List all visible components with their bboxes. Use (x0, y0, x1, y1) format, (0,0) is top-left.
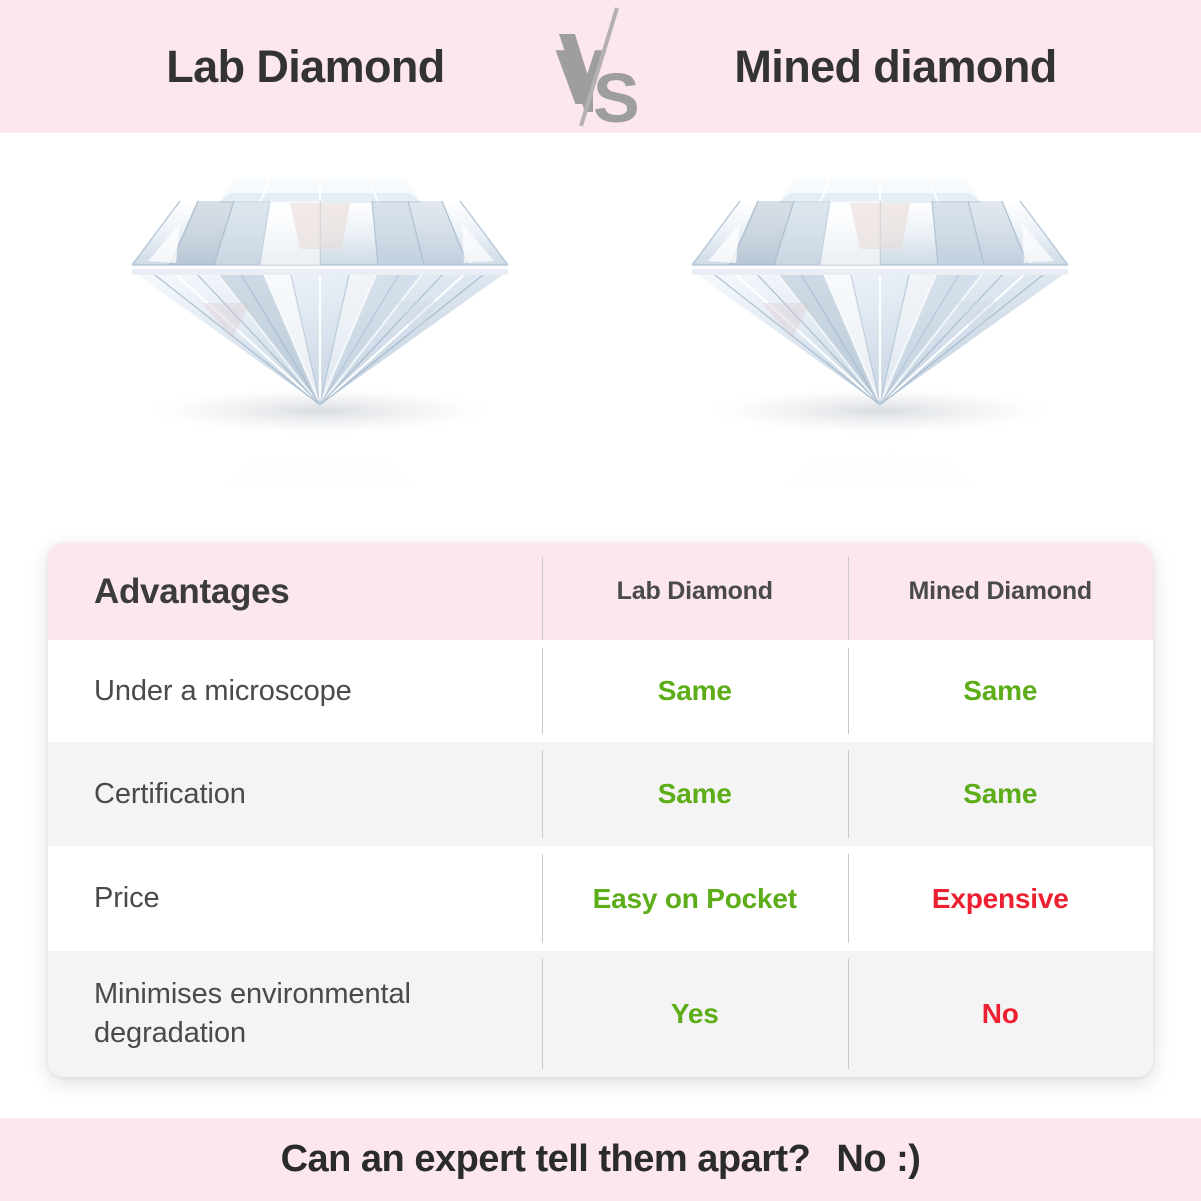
feature-label: Certification (94, 775, 246, 814)
table-cell-feature: Under a microscope (48, 640, 542, 742)
table-cell-lab-value: Yes (542, 951, 848, 1077)
table-header-lab-label: Lab Diamond (617, 577, 773, 606)
vs-badge: V S (541, 0, 661, 133)
table-header-cell-advantages: Advantages (48, 543, 542, 640)
table-cell-mined-value: Same (848, 742, 1154, 846)
header-titles: Lab Diamond V S Mined diamond (0, 0, 1201, 133)
mined-value: No (982, 998, 1019, 1030)
table-cell-mined-value: Expensive (848, 846, 1154, 951)
table-cell-mined-value: Same (848, 640, 1154, 742)
diamond-icon-mined (670, 153, 1090, 483)
infographic-page: Lab Diamond V S Mined diamond (0, 0, 1201, 1201)
mined-value: Same (963, 778, 1037, 810)
footer-band: Can an expert tell them apart? No :) (0, 1118, 1201, 1201)
feature-label: Under a microscope (94, 672, 352, 711)
table-cell-lab-value: Same (542, 640, 848, 742)
header-band: Lab Diamond V S Mined diamond (0, 0, 1201, 133)
vs-icon: V S (541, 0, 661, 133)
table-header-cell-lab: Lab Diamond (542, 543, 848, 640)
table-header-mined-label: Mined Diamond (908, 577, 1092, 606)
table-cell-lab-value: Easy on Pocket (542, 846, 848, 951)
table-header-cell-mined: Mined Diamond (848, 543, 1154, 640)
feature-label: Price (94, 879, 160, 918)
comparison-card: Advantages Lab Diamond Mined Diamond Und… (48, 543, 1153, 1077)
comparison-table: Advantages Lab Diamond Mined Diamond Und… (48, 543, 1153, 1077)
lab-value: Same (658, 778, 732, 810)
footer-question: Can an expert tell them apart? (281, 1138, 811, 1181)
table-row: Price Easy on Pocket Expensive (48, 846, 1153, 951)
table-cell-mined-value: No (848, 951, 1154, 1077)
mined-value: Expensive (932, 883, 1069, 915)
table-header-advantages-label: Advantages (94, 572, 289, 612)
diamond-image-lab (110, 153, 530, 483)
footer-answer: No :) (836, 1138, 920, 1181)
diamond-icon-lab (110, 153, 530, 483)
lab-value: Easy on Pocket (593, 883, 797, 915)
table-cell-feature: Certification (48, 742, 542, 846)
table-cell-lab-value: Same (542, 742, 848, 846)
mined-value: Same (963, 675, 1037, 707)
diamond-image-area (0, 133, 1201, 545)
table-cell-feature: Minimises environmental degradation (48, 951, 542, 1077)
page-title-lab-diamond: Lab Diamond (71, 41, 541, 93)
table-header-row: Advantages Lab Diamond Mined Diamond (48, 543, 1153, 640)
table-row: Minimises environmental degradation Yes … (48, 951, 1153, 1077)
page-title-mined-diamond: Mined diamond (661, 41, 1131, 93)
table-row: Certification Same Same (48, 742, 1153, 846)
lab-value: Yes (671, 998, 719, 1030)
lab-value: Same (658, 675, 732, 707)
feature-label: Minimises environmental degradation (94, 975, 542, 1052)
diamond-image-mined (670, 153, 1090, 483)
table-row: Under a microscope Same Same (48, 640, 1153, 742)
table-cell-feature: Price (48, 846, 542, 951)
